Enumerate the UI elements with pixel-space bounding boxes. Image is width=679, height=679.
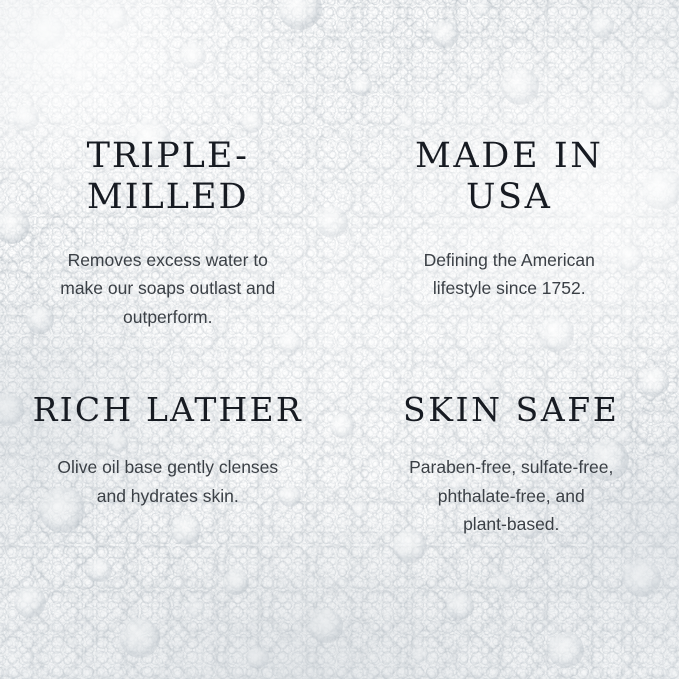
feature-body-triple-milled: Removes excess water to make our soaps o… xyxy=(60,246,275,332)
feature-heading-triple-milled: Triple- Milled xyxy=(87,136,249,218)
feature-panel-rich-lather: Rich Lather Olive oil base gently clense… xyxy=(0,340,340,679)
feature-body-rich-lather: Olive oil base gently clenses and hydrat… xyxy=(57,453,278,510)
feature-panel-made-in-usa: Made in USA Defining the American lifest… xyxy=(340,0,679,340)
feature-body-made-in-usa: Defining the American lifestyle since 17… xyxy=(424,246,595,303)
feature-heading-skin-safe: Skin Safe xyxy=(403,391,620,430)
feature-heading-rich-lather: Rich Lather xyxy=(33,391,303,430)
feature-graphic: Triple- Milled Removes excess water to m… xyxy=(0,0,679,679)
feature-panel-triple-milled: Triple- Milled Removes excess water to m… xyxy=(0,0,340,340)
feature-grid: Triple- Milled Removes excess water to m… xyxy=(0,0,679,679)
feature-panel-skin-safe: Skin Safe Paraben-free, sulfate-free, ph… xyxy=(340,340,679,679)
feature-body-skin-safe: Paraben-free, sulfate-free, phthalate-fr… xyxy=(409,453,613,539)
feature-heading-made-in-usa: Made in USA xyxy=(415,136,604,218)
